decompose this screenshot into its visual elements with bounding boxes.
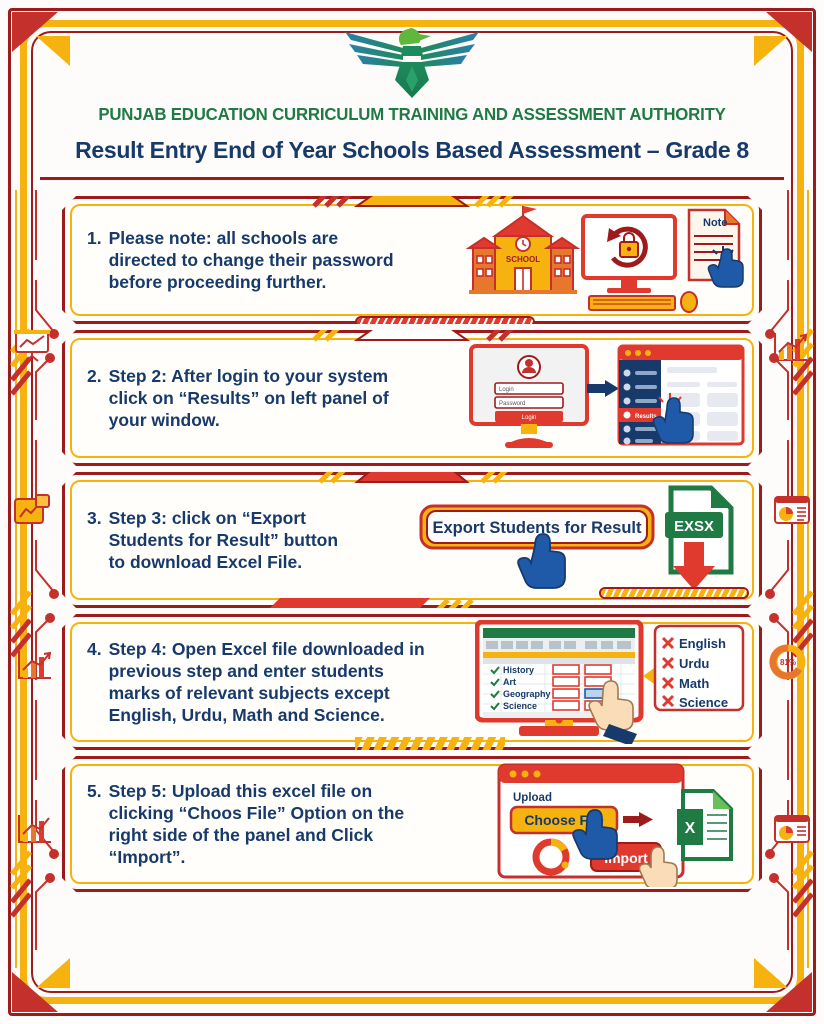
progress-pill-3	[599, 587, 749, 599]
circuit-lines-left	[6, 190, 64, 968]
circuit-lines-right	[760, 190, 818, 968]
step-art-2: Login Password Login	[467, 340, 745, 456]
exsx-file-label: EXSX	[674, 518, 714, 535]
step-label-5: Step 5: Upload this excel file on clicki…	[109, 780, 429, 868]
hatch-decor-4	[355, 737, 505, 751]
excluded-subjects-callout: English Urdu Math Science	[643, 626, 743, 710]
dashboard-window-icon: Results	[619, 346, 743, 445]
step-card-1: 1. Please note: all schools are directed…	[62, 196, 762, 324]
step-art-4: History Art Geography Science	[475, 620, 745, 744]
monitor-login-icon: Login Password Login	[471, 346, 587, 448]
excel-file-download-icon: EXSX	[665, 488, 731, 590]
left-circuit-rail	[6, 190, 64, 968]
excluded-science: Science	[679, 695, 728, 710]
card-notch-decor-2	[262, 324, 562, 342]
excel-file-icon: X	[677, 791, 731, 859]
bar-chart-icon	[14, 812, 54, 846]
bar-chart-up-icon	[14, 648, 54, 682]
password-field-label: Password	[499, 401, 525, 407]
organization-name: PUNJAB EDUCATION CURRICULUM TRAINING AND…	[55, 104, 769, 125]
export-button-label: Export Students for Result	[432, 519, 642, 537]
note-label: Note	[703, 217, 727, 229]
step-art-5: Upload Choose File X	[495, 761, 745, 887]
step-card-4: 4. Step 4: Open Excel file downloaded in…	[62, 614, 762, 750]
upload-label: Upload	[513, 792, 552, 804]
mouse-icon	[681, 292, 697, 312]
infographic-poster: PUNJAB EDUCATION CURRICULUM TRAINING AND…	[0, 0, 824, 1024]
step-label-2: Step 2: After login to your system click…	[109, 365, 419, 431]
right-circuit-rail	[760, 190, 818, 968]
step-text-2: 2. Step 2: After login to your system cl…	[79, 365, 419, 431]
subject-geography: Geography	[503, 689, 551, 699]
step-number-2: 2.	[87, 365, 102, 431]
step-number-3: 3.	[87, 507, 102, 573]
header-divider	[40, 177, 784, 180]
step-label-4: Step 4: Open Excel file downloaded in pr…	[109, 638, 439, 726]
arrow-right-icon	[587, 380, 619, 397]
step-card-3: 3. Step 3: click on “Export Students for…	[62, 472, 762, 608]
bar-chart-icon	[770, 330, 810, 364]
steps-list: 1. Please note: all schools are directed…	[62, 196, 762, 898]
note-document-icon: Note	[689, 210, 743, 287]
donut-progress-icon: 81%	[766, 640, 810, 684]
monitor-padlock-refresh-icon	[583, 216, 697, 312]
step-label-3: Step 3: click on “Export Students for Re…	[109, 507, 339, 573]
subject-art: Art	[503, 677, 516, 687]
step-label-1: Please note: all schools are directed to…	[109, 227, 404, 293]
svg-text:X: X	[685, 820, 696, 837]
login-field-label: Login	[499, 387, 514, 393]
excluded-english: English	[679, 636, 726, 651]
step-number-1: 1.	[87, 227, 102, 293]
subject-science: Science	[503, 701, 537, 711]
school-sign-label: SCHOOL	[506, 255, 540, 264]
subject-history: History	[503, 665, 534, 675]
step-text-3: 3. Step 3: click on “Export Students for…	[79, 507, 339, 573]
step-number-4: 4.	[87, 638, 102, 726]
step-art-1: SCHOOL	[465, 206, 745, 314]
excluded-math: Math	[679, 676, 709, 691]
poster-header: PUNJAB EDUCATION CURRICULUM TRAINING AND…	[40, 14, 784, 184]
page-title: Result Entry End of Year Schools Based A…	[40, 137, 784, 164]
step-text-1: 1. Please note: all schools are directed…	[79, 227, 404, 293]
login-button-label: Login	[522, 415, 537, 421]
step-art-3: Export Students for Result EXSX	[415, 482, 745, 598]
card-notch-decor-3	[262, 466, 562, 484]
pie-chart-window-icon	[772, 493, 812, 527]
pie-chart-window-icon	[772, 812, 812, 846]
pectaa-eagle-logo	[337, 22, 487, 100]
step-text-5: 5. Step 5: Upload this excel file on cli…	[79, 780, 429, 868]
step-card-2: 2. Step 2: After login to your system cl…	[62, 330, 762, 466]
step-text-4: 4. Step 4: Open Excel file downloaded in…	[79, 638, 439, 726]
step-card-5: 5. Step 5: Upload this excel file on cli…	[62, 756, 762, 892]
card-bottom-notch-3	[220, 596, 520, 614]
progress-pill-1	[355, 316, 535, 328]
donut-progress-label: 81%	[780, 658, 796, 667]
school-building-icon: SCHOOL	[469, 206, 577, 294]
step-number-5: 5.	[87, 780, 102, 868]
excluded-urdu: Urdu	[679, 656, 709, 671]
presentation-chart-icon	[12, 328, 52, 362]
photo-chart-icon	[12, 493, 52, 527]
